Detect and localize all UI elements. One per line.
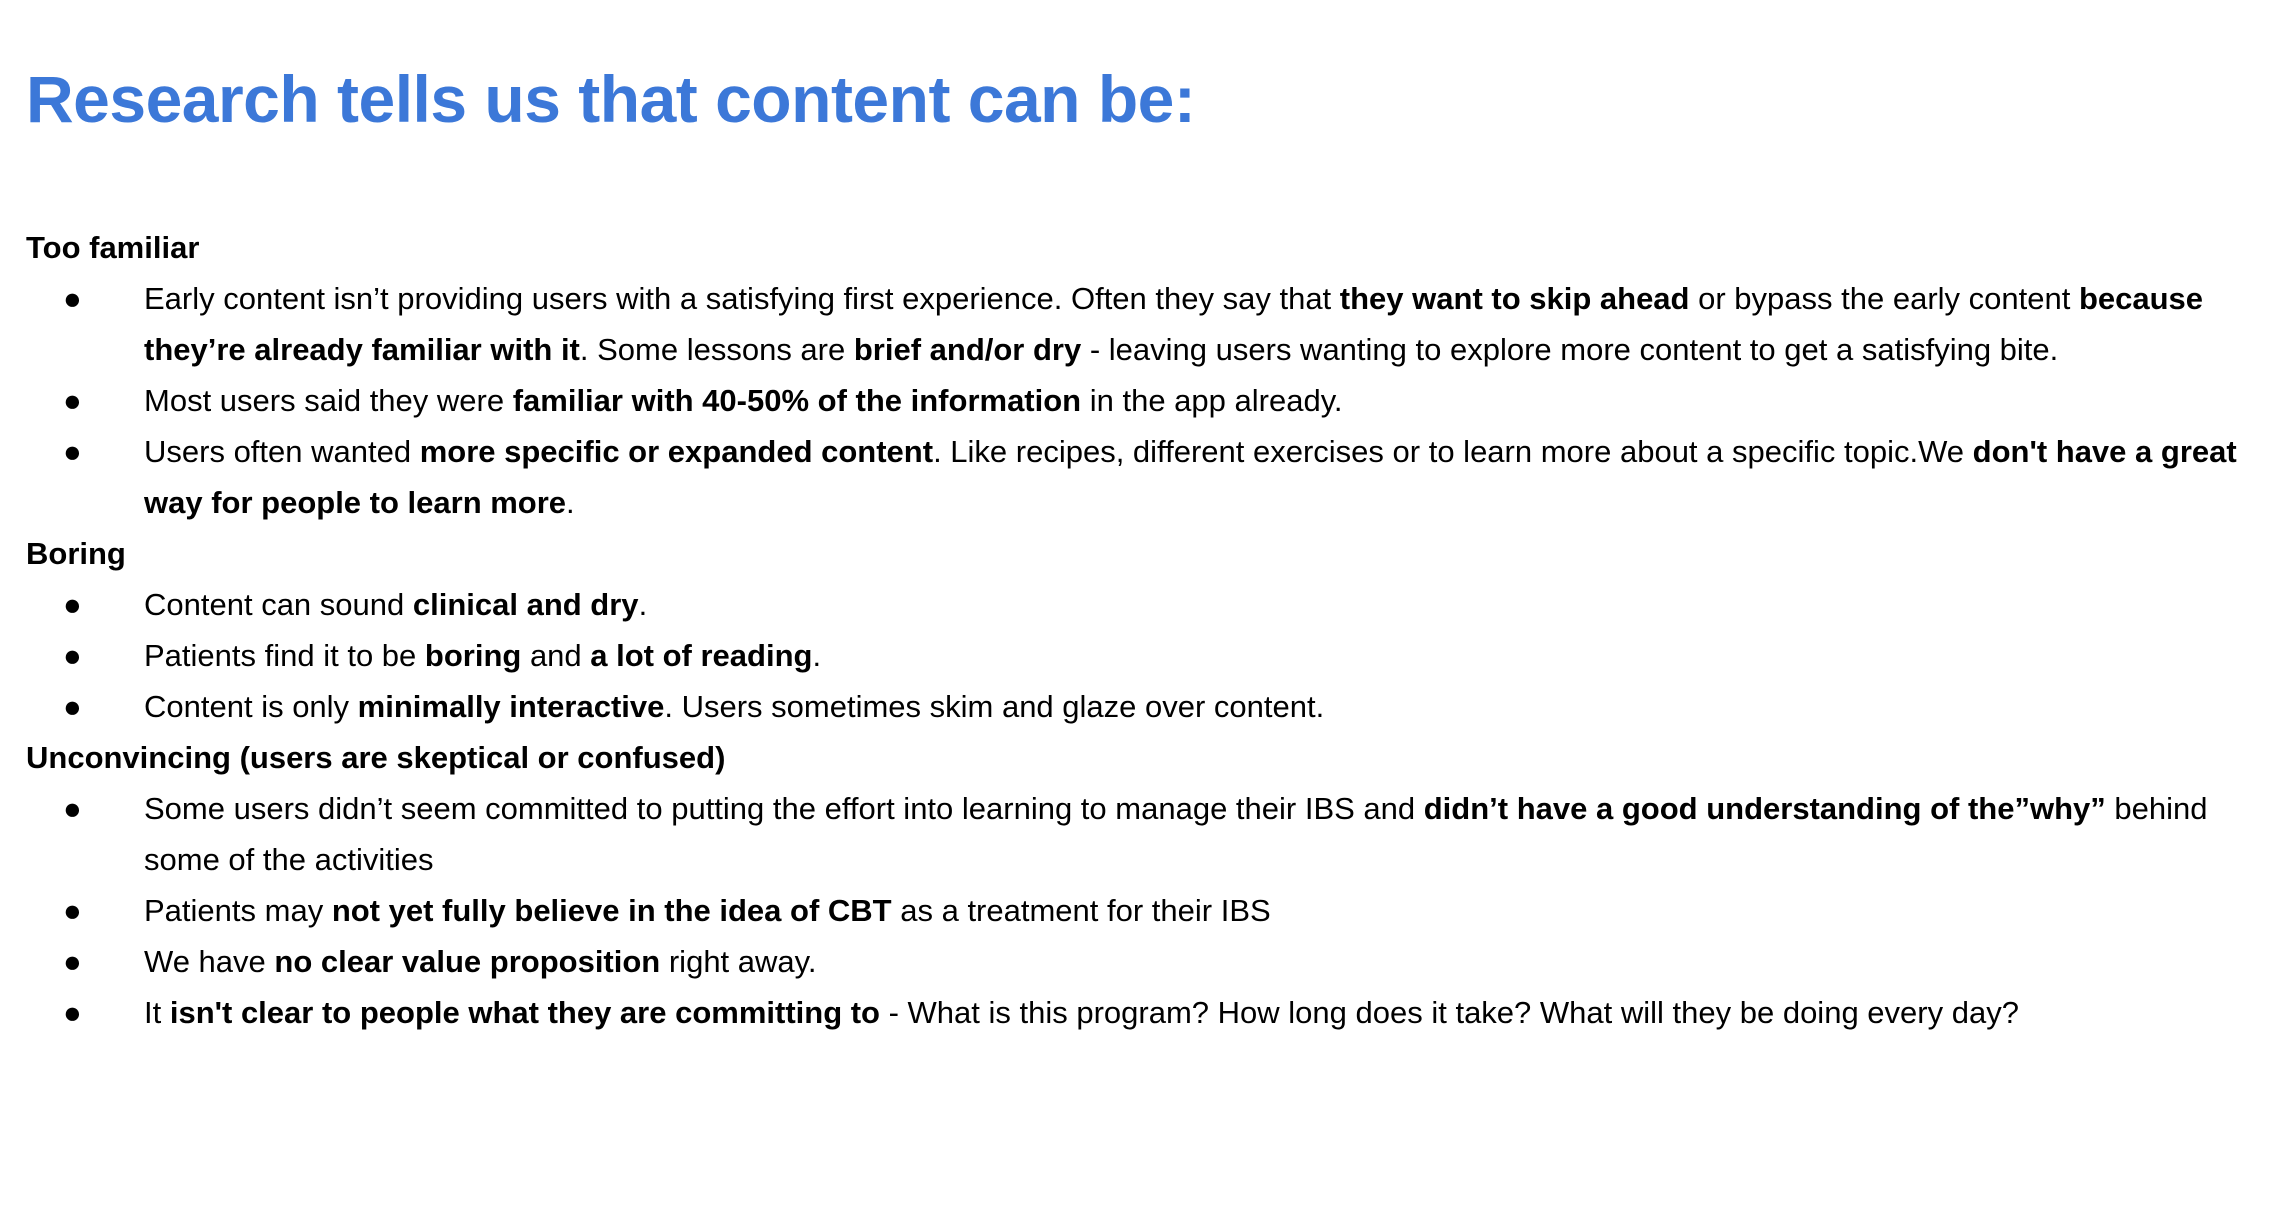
section-heading: Too familiar xyxy=(26,222,2254,273)
bullet-point-icon: ● xyxy=(63,630,85,681)
section-boring: Boring ● Content can sound clinical and … xyxy=(26,528,2254,732)
list-item: ● We have no clear value proposition rig… xyxy=(26,936,2254,987)
list-item-text: Some users didn’t seem committed to putt… xyxy=(144,791,2207,877)
section-heading: Boring xyxy=(26,528,2254,579)
section-unconvincing: Unconvincing (users are skeptical or con… xyxy=(26,732,2254,1038)
bullet-list: ● Content can sound clinical and dry. ● … xyxy=(26,579,2254,732)
bullet-list: ● Early content isn’t providing users wi… xyxy=(26,273,2254,528)
list-item: ● Content can sound clinical and dry. xyxy=(26,579,2254,630)
list-item: ● Early content isn’t providing users wi… xyxy=(26,273,2254,375)
bullet-point-icon: ● xyxy=(63,375,85,426)
section-heading: Unconvincing (users are skeptical or con… xyxy=(26,732,2254,783)
list-item: ● Most users said they were familiar wit… xyxy=(26,375,2254,426)
list-item-text: Most users said they were familiar with … xyxy=(144,383,1343,418)
list-item: ● Users often wanted more specific or ex… xyxy=(26,426,2254,528)
list-item: ● Content is only minimally interactive.… xyxy=(26,681,2254,732)
bullet-point-icon: ● xyxy=(63,885,85,936)
bullet-point-icon: ● xyxy=(63,681,85,732)
slide-body: Too familiar ● Early content isn’t provi… xyxy=(26,222,2254,1038)
bullet-point-icon: ● xyxy=(63,579,85,630)
list-item-text: Patients find it to be boring and a lot … xyxy=(144,638,821,673)
bullet-point-icon: ● xyxy=(63,987,85,1038)
list-item-text: Content can sound clinical and dry. xyxy=(144,587,647,622)
bullet-point-icon: ● xyxy=(63,426,85,477)
list-item-text: Users often wanted more specific or expa… xyxy=(144,434,2237,520)
list-item-text: It isn't clear to people what they are c… xyxy=(144,995,2019,1030)
bullet-point-icon: ● xyxy=(63,783,85,834)
list-item: ● Patients may not yet fully believe in … xyxy=(26,885,2254,936)
list-item-text: Content is only minimally interactive. U… xyxy=(144,689,1324,724)
list-item: ● Patients find it to be boring and a lo… xyxy=(26,630,2254,681)
list-item: ● Some users didn’t seem committed to pu… xyxy=(26,783,2254,885)
page-title: Research tells us that content can be: xyxy=(26,62,2226,138)
list-item: ● It isn't clear to people what they are… xyxy=(26,987,2254,1038)
section-too-familiar: Too familiar ● Early content isn’t provi… xyxy=(26,222,2254,528)
list-item-text: Patients may not yet fully believe in th… xyxy=(144,893,1271,928)
slide-canvas: Research tells us that content can be: T… xyxy=(0,0,2278,1216)
bullet-point-icon: ● xyxy=(63,936,85,987)
bullet-point-icon: ● xyxy=(63,273,85,324)
bullet-list: ● Some users didn’t seem committed to pu… xyxy=(26,783,2254,1038)
list-item-text: We have no clear value proposition right… xyxy=(144,944,816,979)
list-item-text: Early content isn’t providing users with… xyxy=(144,281,2203,367)
